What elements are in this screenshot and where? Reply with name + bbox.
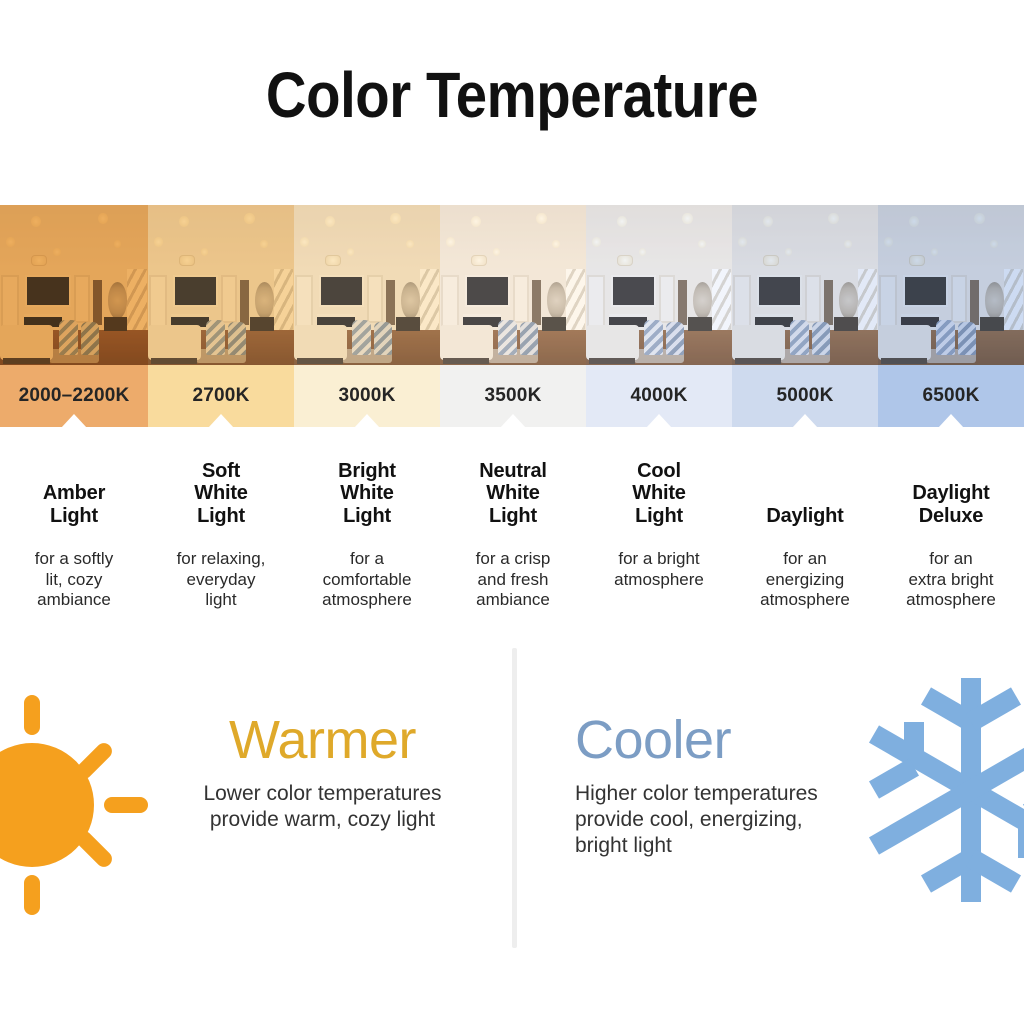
light-name-line-2: White	[632, 482, 685, 504]
warmer-heading: Warmer	[150, 712, 495, 769]
light-description-line-2: lit, cozy	[8, 570, 140, 591]
warmer-body-line-1: Lower color temperatures	[150, 781, 495, 807]
kelvin-notch-3	[354, 414, 380, 428]
kelvin-cell-5: 4000K	[586, 365, 732, 427]
light-name-text-2: SoftWhiteLight	[194, 460, 247, 527]
living-room-3500k	[440, 205, 586, 365]
room-photo-6	[732, 205, 878, 365]
living-room-2700k	[148, 205, 294, 365]
light-name-line-2: Deluxe	[912, 505, 989, 527]
light-name-line-1: Daylight	[912, 482, 989, 504]
living-room-3000k	[294, 205, 440, 365]
light-name-line-1: Cool	[632, 460, 685, 482]
light-name-line-2: White	[479, 482, 547, 504]
description-cell-6: Daylightfor anenergizingatmosphere	[732, 455, 878, 620]
kelvin-notch-4	[500, 414, 526, 428]
cooler-body-line-1: Higher color temperatures	[575, 781, 925, 807]
warmer-block: Warmer Lower color temperatures provide …	[150, 712, 495, 833]
cooler-body: Higher color temperatures provide cool, …	[575, 781, 925, 860]
light-name-line-1: Bright	[338, 460, 396, 482]
light-description-line-3: atmosphere	[886, 590, 1016, 611]
light-description-line-1: for relaxing,	[156, 549, 286, 570]
description-cell-5: CoolWhiteLightfor a brightatmosphere	[586, 455, 732, 620]
light-description-line-1: for a crisp	[448, 549, 578, 570]
light-name-line-1: Neutral	[479, 460, 547, 482]
room-photo-1	[0, 205, 148, 365]
light-description-line-1: for a bright	[594, 549, 724, 570]
light-name-line-3: Light	[632, 505, 685, 527]
kelvin-label-6: 5000K	[777, 385, 834, 407]
light-name-text-6: Daylight	[766, 505, 843, 527]
light-description-line-2: everyday	[156, 570, 286, 591]
description-cell-2: SoftWhiteLightfor relaxing,everydaylight	[148, 455, 294, 620]
kelvin-notch-2	[208, 414, 234, 428]
light-description-6: for anenergizingatmosphere	[740, 549, 870, 611]
living-room-4000k	[586, 205, 732, 365]
room-photo-7	[878, 205, 1024, 365]
light-description-line-2: atmosphere	[594, 570, 724, 591]
warmer-cooler-section: Warmer Lower color temperatures provide …	[0, 640, 1024, 970]
light-description-line-1: for a softly	[8, 549, 140, 570]
kelvin-cell-1: 2000–2200K	[0, 365, 148, 427]
light-description-7: for anextra brightatmosphere	[886, 549, 1016, 611]
light-description-line-1: for a	[302, 549, 432, 570]
cooler-body-line-3: bright light	[575, 833, 925, 859]
kelvin-cell-6: 5000K	[732, 365, 878, 427]
cooler-block: Cooler Higher color temperatures provide…	[575, 712, 925, 859]
kelvin-cell-3: 3000K	[294, 365, 440, 427]
light-description-5: for a brightatmosphere	[594, 549, 724, 590]
light-name-line-2: Light	[43, 505, 105, 527]
description-cell-4: NeutralWhiteLightfor a crispand freshamb…	[440, 455, 586, 620]
kelvin-label-4: 3500K	[485, 385, 542, 407]
light-name-text-1: AmberLight	[43, 482, 105, 527]
warmer-body: Lower color temperatures provide warm, c…	[150, 781, 495, 834]
light-name-text-4: NeutralWhiteLight	[479, 460, 547, 527]
kelvin-cell-4: 3500K	[440, 365, 586, 427]
light-description-line-2: comfortable	[302, 570, 432, 591]
light-name-line-1: Daylight	[766, 505, 843, 527]
light-description-line-2: energizing	[740, 570, 870, 591]
light-description-line-3: atmosphere	[740, 590, 870, 611]
light-name-4: NeutralWhiteLight	[448, 455, 578, 527]
light-name-3: BrightWhiteLight	[302, 455, 432, 527]
light-name-line-2: White	[338, 482, 396, 504]
light-description-line-3: light	[156, 590, 286, 611]
kelvin-label-7: 6500K	[923, 385, 980, 407]
cooler-heading: Cooler	[575, 712, 925, 769]
kelvin-cell-2: 2700K	[148, 365, 294, 427]
page-title-container: Color Temperature	[0, 62, 1024, 129]
light-name-line-3: Light	[338, 505, 396, 527]
warmer-body-line-2: provide warm, cozy light	[150, 807, 495, 833]
light-name-text-5: CoolWhiteLight	[632, 460, 685, 527]
living-room-6500k	[878, 205, 1024, 365]
light-description-line-3: ambiance	[8, 590, 140, 611]
light-description-line-3: atmosphere	[302, 590, 432, 611]
room-photo-strip	[0, 205, 1024, 365]
description-cell-1: AmberLightfor a softlylit, cozyambiance	[0, 455, 148, 620]
light-description-line-3: ambiance	[448, 590, 578, 611]
description-columns: AmberLightfor a softlylit, cozyambianceS…	[0, 455, 1024, 620]
light-description-line-1: for an	[740, 549, 870, 570]
light-name-text-7: DaylightDeluxe	[912, 482, 989, 527]
sun-icon	[0, 695, 148, 915]
living-room-2000k	[0, 205, 148, 365]
light-name-7: DaylightDeluxe	[886, 455, 1016, 527]
room-photo-4	[440, 205, 586, 365]
kelvin-label-1: 2000–2200K	[19, 385, 130, 407]
kelvin-label-5: 4000K	[631, 385, 688, 407]
kelvin-label-3: 3000K	[339, 385, 396, 407]
kelvin-notch-6	[792, 414, 818, 428]
kelvin-notch-1	[61, 414, 87, 428]
kelvin-label-2: 2700K	[193, 385, 250, 407]
light-name-line-1: Soft	[194, 460, 247, 482]
light-description-3: for acomfortableatmosphere	[302, 549, 432, 611]
living-room-5000k	[732, 205, 878, 365]
cooler-body-line-2: provide cool, energizing,	[575, 807, 925, 833]
color-temperature-infographic: Color Temperature 2000–2200K2700K3000K35…	[0, 0, 1024, 1024]
kelvin-notch-5	[646, 414, 672, 428]
light-description-1: for a softlylit, cozyambiance	[8, 549, 140, 611]
room-photo-5	[586, 205, 732, 365]
kelvin-notch-7	[938, 414, 964, 428]
light-description-line-1: for an	[886, 549, 1016, 570]
description-cell-7: DaylightDeluxefor anextra brightatmosphe…	[878, 455, 1024, 620]
description-cell-3: BrightWhiteLightfor acomfortableatmosphe…	[294, 455, 440, 620]
kelvin-color-band: 2000–2200K2700K3000K3500K4000K5000K6500K	[0, 365, 1024, 427]
light-name-6: Daylight	[740, 455, 870, 527]
light-description-line-2: and fresh	[448, 570, 578, 591]
light-name-1: AmberLight	[8, 455, 140, 527]
light-name-line-3: Light	[479, 505, 547, 527]
kelvin-cell-7: 6500K	[878, 365, 1024, 427]
light-name-5: CoolWhiteLight	[594, 455, 724, 527]
room-photo-2	[148, 205, 294, 365]
light-name-text-3: BrightWhiteLight	[338, 460, 396, 527]
room-photo-3	[294, 205, 440, 365]
light-description-line-2: extra bright	[886, 570, 1016, 591]
page-title: Color Temperature	[61, 62, 962, 129]
light-name-line-1: Amber	[43, 482, 105, 504]
light-description-2: for relaxing,everydaylight	[156, 549, 286, 611]
light-name-line-2: White	[194, 482, 247, 504]
section-divider	[512, 648, 517, 948]
light-description-4: for a crispand freshambiance	[448, 549, 578, 611]
light-name-line-3: Light	[194, 505, 247, 527]
light-name-2: SoftWhiteLight	[156, 455, 286, 527]
